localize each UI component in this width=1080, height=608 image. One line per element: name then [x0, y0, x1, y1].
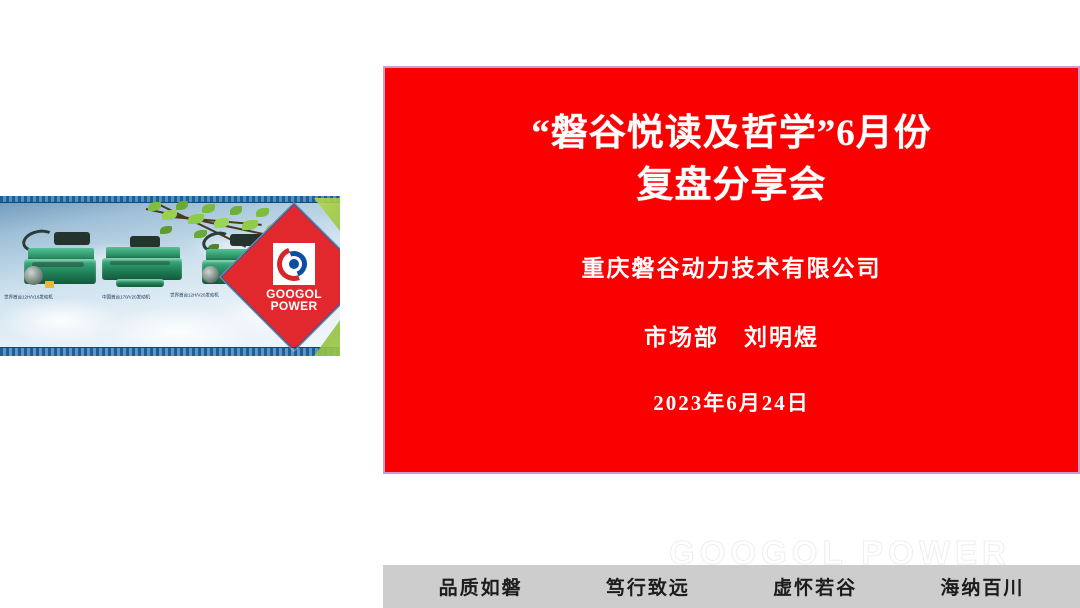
slogan-item-4: 海纳百川	[940, 573, 1024, 600]
slide-title-line-2: 复盘分享会	[531, 160, 932, 212]
presenter-name: 市场部 刘明煜	[644, 318, 819, 352]
engine-caption-2: 中国首台170/V20发动机	[102, 294, 150, 300]
engine-photo-1: 世界首台12H/V16发动机	[16, 228, 102, 294]
logo-swirl-plate	[273, 243, 315, 285]
logo-text-power: POWER	[271, 300, 318, 312]
slogan-item-1: 品质如磐	[439, 573, 523, 600]
title-slide-panel: “磐谷悦读及哲学”6月份 复盘分享会 重庆磐谷动力技术有限公司 市场部 刘明煜 …	[383, 66, 1080, 474]
company-name: 重庆磐谷动力技术有限公司	[582, 249, 882, 283]
googol-power-logo: GOOGOL POWER	[196, 198, 340, 356]
slide-title: “磐谷悦读及哲学”6月份 复盘分享会	[531, 108, 932, 212]
slogan-bar: 品质如磐 笃行致远 虚怀若谷 海纳百川	[383, 565, 1080, 608]
swirl-icon	[277, 247, 311, 281]
engine-photo-2: 中国首台170/V20发动机	[96, 236, 188, 294]
slide-title-line-1: “磐谷悦读及哲学”6月份	[531, 108, 932, 160]
presentation-date: 2023年6月24日	[653, 387, 810, 417]
banner-bottom-border	[0, 347, 340, 356]
engine-caption-1: 世界首台12H/V16发动机	[4, 294, 53, 300]
logo-text-googol: GOOGOL	[266, 288, 322, 300]
slogan-item-2: 笃行致远	[606, 573, 690, 600]
googol-power-watermark: GOOGOL POWER	[600, 534, 1080, 568]
company-banner-image: 世界首台12H/V16发动机 中国首台170/V20发动机 世界首台12H/V2…	[0, 196, 340, 356]
slogan-item-3: 虚怀若谷	[773, 573, 857, 600]
